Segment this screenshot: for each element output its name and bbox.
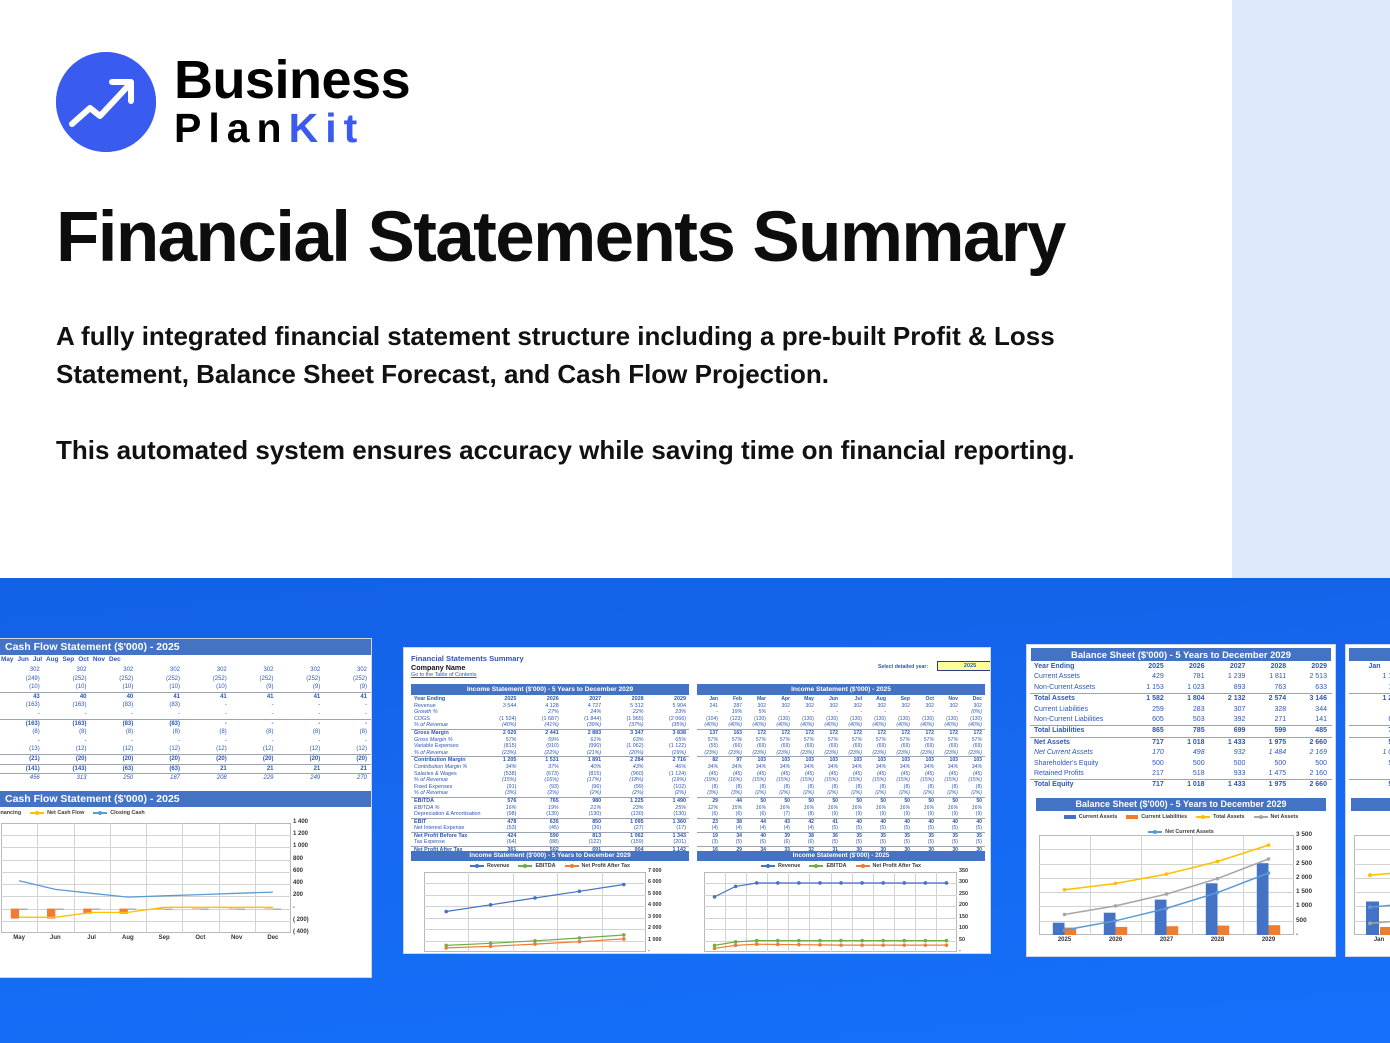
axis-tick-label: Nov	[915, 953, 936, 954]
table-cell: 2 513	[1291, 672, 1332, 682]
table-cell: 2026	[1169, 662, 1210, 672]
table-cell: (4)	[745, 825, 769, 832]
row-label: % of Revenue	[411, 722, 477, 729]
table-of-contents-link[interactable]: Go to the Table of Contents	[411, 672, 477, 678]
table-cell: (40%)	[913, 722, 937, 729]
cash-flow-screenshot[interactable]: Cash Flow Statement ($'000) - 2025 MayJu…	[0, 638, 372, 978]
table-row: Jan	[1349, 662, 1390, 672]
table-cell: 302	[841, 703, 865, 710]
table-cell: (9)	[231, 683, 278, 692]
table-cell: 170	[1128, 748, 1169, 758]
select-year-input[interactable]: 2025	[937, 661, 991, 671]
table-cell: 40	[841, 819, 865, 826]
table-cell: 82	[697, 757, 721, 764]
row-label: COGS	[411, 716, 477, 723]
table-row: COGS(1 524)(1 687)(1 844)(1 965)(2 066)	[411, 716, 689, 723]
column-header: Jul	[33, 656, 46, 665]
table-cell: (8)	[137, 728, 184, 737]
table-cell: May	[793, 696, 817, 703]
table-row: 137163172172172172172172172172172172	[697, 729, 985, 737]
axis-tick-label: 1 000	[293, 843, 308, 849]
table-row: Net Profit Before Tax4245908131 0621 343	[411, 832, 689, 840]
table-row: Shareholder's Equity500500500500500	[1030, 759, 1332, 769]
table-cell: (6)	[745, 839, 769, 846]
axis-tick-label: May	[788, 953, 809, 954]
table-cell: 932	[1210, 748, 1251, 758]
table-cell: 500	[1291, 759, 1332, 769]
table-cell: 785	[1169, 726, 1210, 736]
table-cell: 786	[1349, 726, 1390, 736]
summary-doc-title: Financial Statements Summary	[411, 654, 524, 663]
table-cell: (130)	[793, 716, 817, 723]
table-row: --------	[0, 710, 371, 719]
table-cell: -	[324, 737, 371, 746]
table-cell: (7)	[769, 811, 793, 818]
table-cell: -	[137, 737, 184, 746]
table-cell: (8)	[793, 811, 817, 818]
table-cell: 392	[1210, 715, 1251, 725]
table-cell: (5)	[841, 839, 865, 846]
legend-swatch	[470, 865, 484, 867]
table-cell: 633	[1291, 683, 1332, 693]
table-cell: (27)	[604, 825, 646, 832]
axis-tick-label: 600	[293, 868, 303, 874]
table-cell: (8)	[231, 728, 278, 737]
axis-tick-label: 2025	[424, 953, 468, 954]
table-cell: (8)	[913, 784, 937, 791]
table-row: Contribution Margin %34%37%40%43%46%	[411, 764, 689, 771]
legend-item: Current Assets	[1064, 814, 1117, 820]
table-cell: (130)	[889, 716, 913, 723]
legend-label: EBITDA	[826, 863, 846, 869]
table-row: (23%)(23%)(23%)(23%)(23%)(23%)(23%)(23%)…	[697, 750, 985, 757]
table-cell: 2 660	[1291, 780, 1332, 790]
table-cell: (2%)	[817, 790, 841, 797]
axis-tick-label: 2 000	[648, 925, 662, 931]
row-label: Variable Expenses	[411, 743, 477, 750]
table-cell: (40%)	[697, 722, 721, 729]
table-cell: 2 160	[1291, 769, 1332, 779]
row-label: Current Assets	[1030, 672, 1128, 682]
table-row: (3)(5)(6)(6)(6)(5)(5)(5)(5)(5)(5)(5)	[697, 839, 985, 846]
table-row: (4)(4)(4)(4)(4)(5)(5)(5)(5)(5)(5)(5)	[697, 825, 985, 832]
table-row: 692	[1349, 715, 1390, 725]
cash-flow-plot-area	[1, 823, 291, 933]
table-cell: 50	[865, 798, 889, 805]
table-cell: Feb	[721, 696, 745, 703]
table-cell: (36)	[562, 825, 604, 832]
table-row: Variable Expenses(815)(910)(990)(1 062)(…	[411, 743, 689, 750]
table-cell: 19%	[519, 805, 561, 812]
table-cell: 22%	[604, 709, 646, 716]
chart-series-layer	[1039, 835, 1294, 935]
table-cell: 302	[769, 703, 793, 710]
table-row: 294450505050505050505050	[697, 797, 985, 805]
table-cell: (252)	[231, 675, 278, 684]
table-cell: 1 062	[604, 833, 646, 840]
table-cell: 503	[1169, 715, 1210, 725]
table-cell: 172	[745, 730, 769, 737]
table-cell: (6)	[745, 811, 769, 818]
legend-swatch	[1126, 815, 1138, 819]
table-cell: 57%	[937, 737, 961, 744]
table-row: % of Revenue(40%)(41%)(39%)(37%)(35%)	[411, 722, 689, 729]
table-row: % of Revenue(15%)(16%)(17%)(18%)(19%)	[411, 777, 689, 784]
row-label: Retained Profits	[1030, 769, 1128, 779]
table-cell: 2028	[604, 696, 646, 703]
table-cell: 41	[817, 819, 841, 826]
balance-sheet-monthly-screenshot[interactable]: Jan1 1741241 297936927865121 08150012512…	[1345, 644, 1390, 957]
edge-panel-title-bar	[1349, 648, 1390, 661]
table-cell: 163	[721, 730, 745, 737]
table-cell: 2 169	[1291, 748, 1332, 758]
table-cell: (2%)	[841, 790, 865, 797]
table-cell: 3 838	[647, 730, 689, 737]
legend-swatch	[1196, 816, 1210, 818]
table-cell: (5)	[817, 825, 841, 832]
legend-swatch	[30, 812, 44, 814]
table-cell: 5%	[745, 709, 769, 716]
table-cell: (15%)	[841, 777, 865, 784]
table-cell: (40%)	[841, 722, 865, 729]
table-cell: (8)	[721, 784, 745, 791]
table-cell: 103	[793, 757, 817, 764]
table-row: 93	[1349, 705, 1390, 715]
table-row: 1 297	[1349, 693, 1390, 704]
legend-item: Net Profit After Tax	[856, 863, 922, 869]
row-label: Tax Expense	[411, 839, 477, 846]
table-cell: 16%	[913, 805, 937, 812]
row-label: Year Ending	[1030, 662, 1128, 672]
table-cell: 1 433	[1210, 738, 1251, 748]
table-cell: 2029	[647, 696, 689, 703]
table-row: 34%34%34%34%34%34%34%34%34%34%34%34%	[697, 764, 985, 771]
table-cell: 302	[324, 666, 371, 675]
table-cell: -	[184, 710, 231, 719]
balance-sheet-x-axis: 20252026202720282029	[1039, 937, 1294, 943]
axis-tick-label: Jan	[704, 953, 725, 954]
table-cell: Oct	[913, 696, 937, 703]
row-label: Contribution Margin %	[411, 764, 477, 771]
table-cell: 1 174	[1349, 672, 1390, 682]
table-cell: (0%)	[961, 709, 985, 716]
table-cell: (23%)	[769, 750, 793, 757]
table-row: (19%)(16%)(15%)(15%)(15%)(15%)(15%)(15%)…	[697, 777, 985, 784]
cash-flow-table-title: Cash Flow Statement ($'000) - 2025	[0, 639, 371, 655]
axis-tick-label: 3 500	[1296, 831, 1312, 838]
table-cell: (91)	[477, 784, 519, 791]
table-row: 193440393836353535353535	[697, 832, 985, 840]
table-cell: 57%	[793, 737, 817, 744]
table-cell: (12)	[231, 745, 278, 754]
table-cell: 103	[817, 757, 841, 764]
table-cell: (130)	[562, 811, 604, 818]
axis-tick-label: 100	[959, 925, 968, 931]
table-cell: -	[697, 709, 721, 716]
table-row: JanFebMarAprMayJunJulAugSepOctNovDec	[697, 696, 985, 703]
table-cell: 50	[889, 798, 913, 805]
legend-swatch	[856, 865, 870, 867]
table-cell: 1 975	[1250, 738, 1291, 748]
axis-tick-label: 2029	[602, 953, 646, 954]
legend-item: Total Assets	[1196, 814, 1244, 820]
table-cell: (23%)	[865, 750, 889, 757]
table-cell: 302	[889, 703, 913, 710]
table-cell: 29	[697, 798, 721, 805]
table-cell: 4 727	[562, 703, 604, 710]
table-cell: (69)	[817, 743, 841, 750]
table-cell: -	[137, 710, 184, 719]
legend-label: Closing Cash	[110, 810, 144, 816]
table-row: 456313250187208229249270	[0, 773, 371, 783]
table-cell: 12	[1349, 769, 1390, 779]
table-row: 12%15%16%16%16%16%16%16%16%16%16%16%	[697, 805, 985, 812]
table-cell: (23%)	[937, 750, 961, 757]
table-cell: -	[91, 710, 138, 719]
table-cell: 40%	[562, 764, 604, 771]
axis-tick-label: 2 000	[1296, 874, 1312, 881]
legend-item: Net Cash Flow	[30, 810, 84, 816]
table-cell: (8)	[769, 784, 793, 791]
table-cell: (130)	[913, 716, 937, 723]
table-cell: 692	[1349, 715, 1390, 725]
axis-tick-label: Jan	[1354, 937, 1390, 943]
table-cell: (15%)	[745, 777, 769, 784]
table-cell: 16%	[769, 805, 793, 812]
table-cell: Jun	[817, 696, 841, 703]
table-cell: (1 124)	[647, 771, 689, 778]
table-cell: (2%)	[793, 790, 817, 797]
table-row: 8297103103103103103103103103103103	[697, 756, 985, 764]
table-cell: -	[937, 709, 961, 716]
legend-item: Closing Cash	[93, 810, 144, 816]
axis-tick-label: 7 000	[648, 868, 662, 874]
table-cell: (4)	[793, 825, 817, 832]
table-cell: 2 716	[647, 757, 689, 764]
axis-tick-label: 2025	[1039, 937, 1090, 943]
table-cell: 103	[889, 757, 913, 764]
table-cell: (23%)	[889, 750, 913, 757]
axis-tick-label: 1 400	[293, 819, 308, 825]
table-row: Net Current Assets1704989321 4842 169	[1030, 748, 1332, 758]
table-cell: (9)	[961, 811, 985, 818]
table-cell: 57%	[961, 737, 985, 744]
table-cell: 1 153	[1128, 683, 1169, 693]
table-cell: 43	[769, 819, 793, 826]
table-cell: (9)	[889, 811, 913, 818]
balance-sheet-chart-legend: Current AssetsCurrent LiabilitiesTotal A…	[1035, 814, 1327, 835]
table-cell: 21	[324, 765, 371, 774]
table-cell: 44	[745, 819, 769, 826]
axis-tick-label: 150	[959, 914, 968, 920]
table-cell: 44	[721, 798, 745, 805]
row-label: Depreciation & Amortisation	[411, 811, 477, 818]
table-cell: (8)	[745, 784, 769, 791]
column-header: May	[1, 656, 17, 665]
table-cell: 172	[769, 730, 793, 737]
chart-series-layer	[1354, 835, 1390, 935]
table-cell: (2%)	[961, 790, 985, 797]
table-cell: (99)	[604, 784, 646, 791]
table-cell: (252)	[184, 675, 231, 684]
axis-tick-label: 3 000	[1296, 845, 1312, 852]
table-cell: (15%)	[889, 777, 913, 784]
table-cell: 259	[1128, 705, 1169, 715]
table-cell: 34%	[477, 764, 519, 771]
table-cell: 57%	[865, 737, 889, 744]
brand-kit-word: Kit	[289, 105, 365, 151]
table-cell: (23%)	[961, 750, 985, 757]
table-cell: (16%)	[721, 777, 745, 784]
table-cell: -	[231, 720, 278, 729]
table-row: (163)(163)(83)(83)----	[0, 701, 371, 710]
table-cell: (15%)	[769, 777, 793, 784]
table-cell: (2%)	[745, 790, 769, 797]
table-cell: 1 811	[1250, 672, 1291, 682]
table-cell: 50	[793, 798, 817, 805]
table-row: Growth %27%24%22%23%	[411, 709, 689, 716]
axis-tick-label: 2028	[1192, 937, 1243, 943]
axis-tick-label: Aug	[110, 935, 146, 941]
table-cell: 40	[91, 693, 138, 702]
table-cell: 1 804	[1169, 694, 1210, 704]
table-cell: 35	[889, 833, 913, 840]
table-cell: (69)	[841, 743, 865, 750]
table-row: 512	[1349, 779, 1390, 790]
table-cell: (40%)	[745, 722, 769, 729]
axis-tick-label: -	[293, 905, 295, 911]
table-cell: 172	[937, 730, 961, 737]
table-cell: 1 343	[647, 833, 689, 840]
axis-tick-label: 800	[293, 856, 303, 862]
balance-sheet-plot-area	[1039, 835, 1294, 935]
brand-logo: Business PlanKit	[56, 52, 410, 152]
column-header: Jun	[17, 656, 32, 665]
legend-label: Revenue	[487, 863, 509, 869]
table-cell: (21)	[0, 755, 44, 764]
chart-series-layer	[704, 872, 957, 952]
table-cell: (45)	[865, 771, 889, 778]
table-cell: (252)	[91, 675, 138, 684]
table-cell: (69)	[961, 743, 985, 750]
balance-sheet-screenshot[interactable]: Balance Sheet ($'000) - 5 Years to Decem…	[1026, 644, 1336, 957]
table-row: (249)(252)(252)(252)(252)(252)(252)(252)	[0, 675, 371, 684]
table-cell: -	[278, 701, 325, 710]
table-cell: 23	[697, 819, 721, 826]
table-cell: 699	[1210, 726, 1251, 736]
table-cell: 2 020	[477, 730, 519, 737]
table-row: % of Revenue(3%)(2%)(2%)(2%)(2%)	[411, 790, 689, 797]
table-cell: (2%)	[562, 790, 604, 797]
table-cell: (1 844)	[562, 716, 604, 723]
table-cell: (9)	[937, 811, 961, 818]
table-cell: 2 441	[519, 730, 561, 737]
table-cell: 576	[477, 798, 519, 805]
table-cell: (45)	[519, 825, 561, 832]
table-cell: (45)	[961, 771, 985, 778]
table-cell: (20)	[231, 755, 278, 764]
table-cell: 1 023	[1169, 683, 1210, 693]
table-row: Total Liabilities865785699599485	[1030, 725, 1332, 736]
table-cell: (538)	[477, 771, 519, 778]
financial-summary-screenshot[interactable]: Financial Statements Summary Company Nam…	[403, 647, 991, 954]
table-row: Salaries & Wages(538)(673)(815)(960)(1 1…	[411, 771, 689, 778]
table-cell: -	[91, 737, 138, 746]
table-cell: (69)	[913, 743, 937, 750]
table-cell: 34%	[721, 764, 745, 771]
balance-sheet-table-title: Balance Sheet ($'000) - 5 Years to Decem…	[1031, 648, 1331, 661]
table-cell: -	[231, 710, 278, 719]
axis-tick-label: 200	[959, 902, 968, 908]
table-cell: (83)	[91, 701, 138, 710]
table-cell: (23%)	[841, 750, 865, 757]
edge-x-axis: Jan	[1354, 937, 1390, 943]
table-row: 57%57%57%57%57%57%57%57%57%57%57%57%	[697, 737, 985, 744]
table-cell: 25%	[647, 805, 689, 812]
table-cell: 518	[1169, 769, 1210, 779]
table-cell: 34%	[745, 764, 769, 771]
table-cell: 217	[1128, 769, 1169, 779]
table-cell: 124	[1349, 683, 1390, 693]
table-cell: 172	[865, 730, 889, 737]
table-cell: (5)	[937, 839, 961, 846]
table-cell: 344	[1291, 705, 1332, 715]
table-cell: 41	[278, 693, 325, 702]
table-cell: 34%	[961, 764, 985, 771]
table-cell: 65%	[647, 737, 689, 744]
table-row: EBITDA5767659801 2251 490	[411, 797, 689, 805]
legend-swatch	[809, 865, 823, 867]
table-cell: 15%	[721, 805, 745, 812]
axis-tick-label: 6 000	[648, 879, 662, 885]
axis-tick-label: Sep	[146, 935, 182, 941]
table-cell: 16%	[889, 805, 913, 812]
table-cell: 187	[137, 774, 184, 783]
table-cell: (990)	[562, 743, 604, 750]
table-cell: (45)	[745, 771, 769, 778]
table-cell: 16%	[961, 805, 985, 812]
table-cell: (130)	[745, 716, 769, 723]
table-cell: (5)	[865, 825, 889, 832]
table-cell: Mar	[745, 696, 769, 703]
table-cell: 3 146	[1291, 694, 1332, 704]
row-label: EBIT	[411, 819, 477, 826]
table-cell: (2%)	[865, 790, 889, 797]
table-cell: (9)	[865, 811, 889, 818]
axis-tick-label: -	[959, 948, 961, 954]
hero-section: Business PlanKit Financial Statements Su…	[0, 0, 1390, 578]
table-cell: (130)	[961, 716, 985, 723]
row-label: Contribution Margin	[411, 757, 477, 764]
table-cell: 302	[937, 703, 961, 710]
table-row: (55)(66)(69)(69)(69)(69)(69)(69)(69)(69)…	[697, 743, 985, 750]
table-cell: (20)	[184, 755, 231, 764]
table-row: (13)(12)(12)(12)(12)(12)(12)(12)	[0, 745, 371, 754]
table-row: -19%5%--------(0%)	[697, 709, 985, 716]
table-cell: (10)	[44, 683, 91, 692]
table-cell: 57%	[477, 737, 519, 744]
table-cell: (123)	[721, 716, 745, 723]
axis-tick-label: ( 400)	[293, 929, 309, 935]
table-cell: 16%	[841, 805, 865, 812]
table-row: (21)(20)(20)(20)(20)(20)(20)(20)	[0, 754, 371, 764]
table-cell: (40%)	[817, 722, 841, 729]
table-cell: 24%	[562, 709, 604, 716]
table-cell: (10)	[0, 683, 44, 692]
table-cell: (122)	[562, 839, 604, 846]
table-cell: 270	[324, 774, 371, 783]
row-label: Net Current Assets	[1030, 748, 1128, 758]
